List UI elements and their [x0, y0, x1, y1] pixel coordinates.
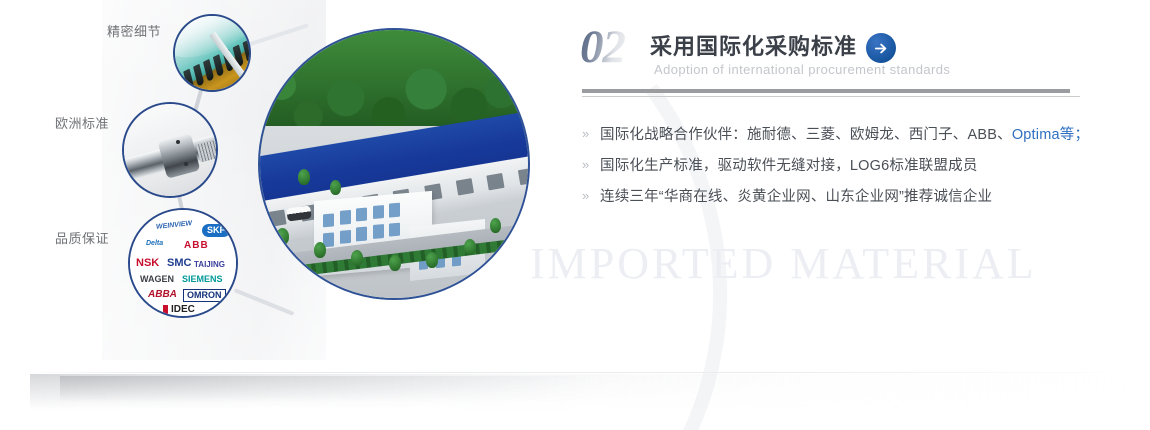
- list-item: » 连续三年“华商在线、炎黄企业网、山东企业网”推荐诚信企业: [582, 180, 1122, 211]
- chevron-double-right-icon: »: [582, 157, 600, 172]
- list-item-text-plain: 连续三年“华商在线、炎黄企业网、山东企业网”推荐诚信企业: [600, 189, 992, 205]
- factory-tree: [351, 250, 363, 266]
- logo-abb: ABB: [184, 241, 209, 251]
- list-item-text-highlight: Optima等；: [1012, 127, 1089, 143]
- list-item: » 国际化战略合作伙伴：施耐德、三菱、欧姆龙、西门子、ABB、Optima等；: [582, 118, 1122, 149]
- divider-thin: [582, 96, 1080, 97]
- brand-logos-collage: WEINVIEW SKF Delta ABB NSK SMC TAIJING W…: [128, 208, 238, 318]
- list-item-text: 连续三年“华商在线、炎黄企业网、山东企业网”推荐诚信企业: [600, 185, 992, 206]
- arrow-right-circle-icon[interactable]: [866, 33, 896, 63]
- gear-detail-photo: [173, 14, 251, 92]
- logo-delta: Delta: [146, 240, 163, 247]
- list-item-text-plain: 国际化战略合作伙伴：施耐德、三菱、欧姆龙、西门子、ABB、: [600, 127, 1012, 143]
- factory-tree: [276, 228, 289, 245]
- logo-wagen: WAGEN: [140, 275, 174, 284]
- divider-thick: [582, 89, 1070, 93]
- list-item-text-plain: 国际化生产标准，驱动软件无缝对接，LOG6标准联盟成员: [600, 158, 978, 174]
- shaft-dot-2: [184, 162, 188, 166]
- factory-tree: [389, 255, 401, 271]
- logo-taijing: TAIJING: [194, 261, 225, 269]
- section-number: 02: [580, 24, 625, 71]
- chevron-double-right-icon: »: [582, 188, 600, 203]
- list-item: » 国际化生产标准，驱动软件无缝对接，LOG6标准联盟成员: [582, 149, 1122, 180]
- factory-tree: [298, 169, 310, 185]
- left-label-quality-assurance: 品质保证: [55, 228, 109, 247]
- logo-nsk: NSK: [136, 258, 159, 269]
- logo-siemens: SIEMENS: [182, 275, 223, 284]
- page-subtitle: Adoption of international procurement st…: [654, 62, 950, 77]
- left-label-european-standard: 欧洲标准: [55, 113, 109, 132]
- bottom-hairline: [20, 372, 1140, 373]
- feature-list: » 国际化战略合作伙伴：施耐德、三菱、欧姆龙、西门子、ABB、Optima等； …: [582, 118, 1122, 211]
- logo-skf: SKF: [202, 224, 230, 237]
- shaft-dot-1: [176, 140, 180, 144]
- chevron-double-right-icon: »: [582, 126, 600, 141]
- logo-smc: SMC: [167, 258, 191, 269]
- bottom-shadow-band: [0, 372, 1150, 430]
- factory-tree: [314, 242, 326, 258]
- left-label-precision: 精密细节: [107, 21, 161, 40]
- list-item-text: 国际化战略合作伙伴：施耐德、三菱、欧姆龙、西门子、ABB、Optima等；: [600, 123, 1089, 144]
- logo-abba: ABBA: [148, 290, 177, 300]
- content-panel: 02 采用国际化采购标准 Adoption of international p…: [578, 0, 1138, 430]
- ball-screw-photo: [122, 102, 218, 198]
- factory-building-photo: [258, 28, 530, 300]
- list-item-text: 国际化生产标准，驱动软件无缝对接，LOG6标准联盟成员: [600, 154, 978, 175]
- page-title: 采用国际化采购标准: [650, 29, 857, 61]
- bottom-gradient-dark: [60, 376, 700, 402]
- factory-tree: [464, 239, 476, 255]
- factory-tree: [330, 180, 341, 195]
- promo-banner: 精密细节 欧洲标准 品质保证 WEINVIEW SKF Delta ABB: [0, 0, 1150, 430]
- logo-omron: OMRON: [183, 289, 226, 302]
- logo-idec: IDEC: [163, 305, 195, 315]
